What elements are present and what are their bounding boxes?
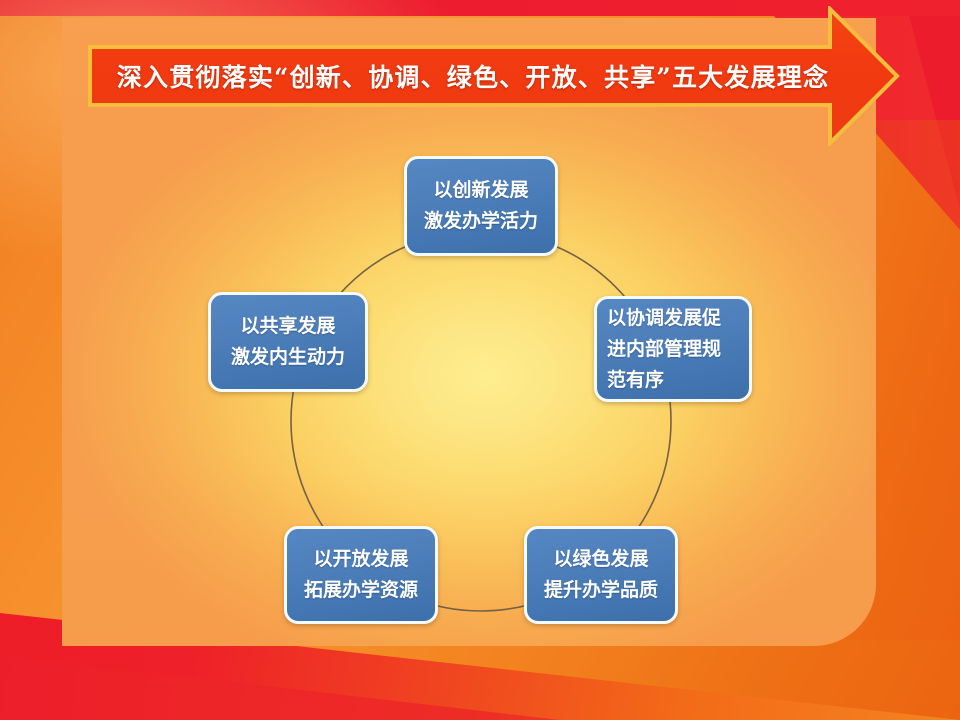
node-green-line-1: 以绿色发展 (553, 544, 648, 575)
node-coordination[interactable]: 以协调发展促 进内部管理规 范有序 (594, 296, 752, 402)
node-green-line-2: 提升办学品质 (544, 575, 658, 606)
node-openness-line-2: 拓展办学资源 (304, 575, 418, 606)
node-innovation-line-2: 激发办学活力 (424, 206, 538, 237)
node-sharing-line-2: 激发内生动力 (231, 342, 345, 373)
node-openness-line-1: 以开放发展 (313, 544, 408, 575)
node-sharing-line-1: 以共享发展 (240, 311, 335, 342)
presentation-slide: 以创新发展 激发办学活力 以协调发展促 进内部管理规 范有序 以绿色发展 提升办… (0, 0, 960, 720)
node-coordination-line-2: 进内部管理规 (607, 334, 721, 365)
title-banner: 深入贯彻落实“创新、协调、绿色、开放、共享”五大发展理念 (88, 6, 900, 146)
node-innovation[interactable]: 以创新发展 激发办学活力 (404, 156, 558, 256)
node-openness[interactable]: 以开放发展 拓展办学资源 (284, 526, 438, 624)
node-coordination-line-3: 范有序 (607, 365, 664, 396)
node-sharing[interactable]: 以共享发展 激发内生动力 (208, 292, 368, 392)
node-innovation-line-1: 以创新发展 (433, 175, 528, 206)
node-green[interactable]: 以绿色发展 提升办学品质 (524, 526, 678, 624)
title-banner-arrow-shape (88, 6, 900, 146)
node-coordination-line-1: 以协调发展促 (607, 303, 721, 334)
